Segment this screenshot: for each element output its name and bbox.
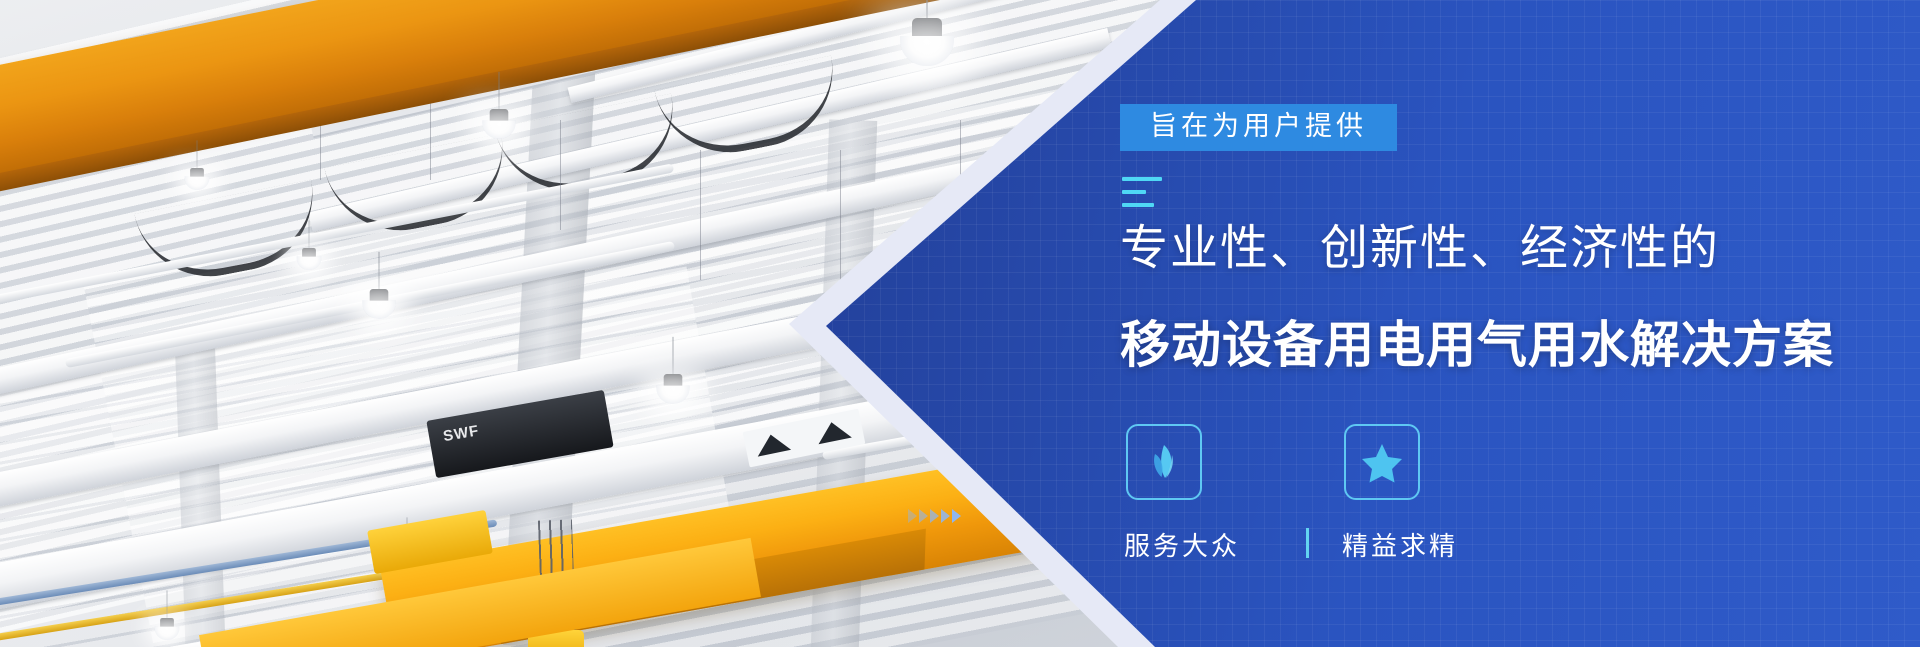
high-bay-lamp <box>185 168 210 202</box>
tagline-badge: 旨在为用户提供 <box>1120 104 1397 151</box>
banner-content: 旨在为用户提供 专业性、创新性、经济性的 移动设备用电用气用水解决方案 服务大众 <box>1120 0 1880 647</box>
hanger-wire <box>560 120 561 230</box>
feature-divider <box>1306 528 1309 558</box>
leaf-icon <box>1143 441 1185 483</box>
hoist-brand-label: SWF <box>442 422 481 445</box>
high-bay-lamp <box>482 109 515 155</box>
high-bay-lamp <box>297 248 322 282</box>
feature-list: 服务大众 精益求精 <box>1120 424 1556 563</box>
star-icon <box>1361 441 1403 483</box>
leaf-icon-box <box>1126 424 1202 500</box>
hero-banner: SWF 旨在为用户提供 专业性、创新性、经济性的 移动设备用电用气用水解决方案 <box>0 0 1920 647</box>
headline-line-1: 专业性、创新性、经济性的 <box>1120 225 1720 273</box>
high-bay-lamp <box>155 618 180 647</box>
star-icon-box <box>1344 424 1420 500</box>
headline-line-2: 移动设备用电用气用水解决方案 <box>1120 320 1834 370</box>
feature-item-excellence[interactable]: 精益求精 <box>1338 424 1556 563</box>
decorative-lines-icon <box>1122 177 1242 216</box>
hanger-wire <box>700 150 701 280</box>
chevron-arrows-icon <box>908 509 961 523</box>
high-bay-lamp <box>362 289 395 335</box>
chevron-vertex <box>768 268 888 388</box>
high-bay-lamp <box>656 374 689 420</box>
feature-label: 精益求精 <box>1342 526 1556 563</box>
high-bay-lamp <box>900 18 954 92</box>
